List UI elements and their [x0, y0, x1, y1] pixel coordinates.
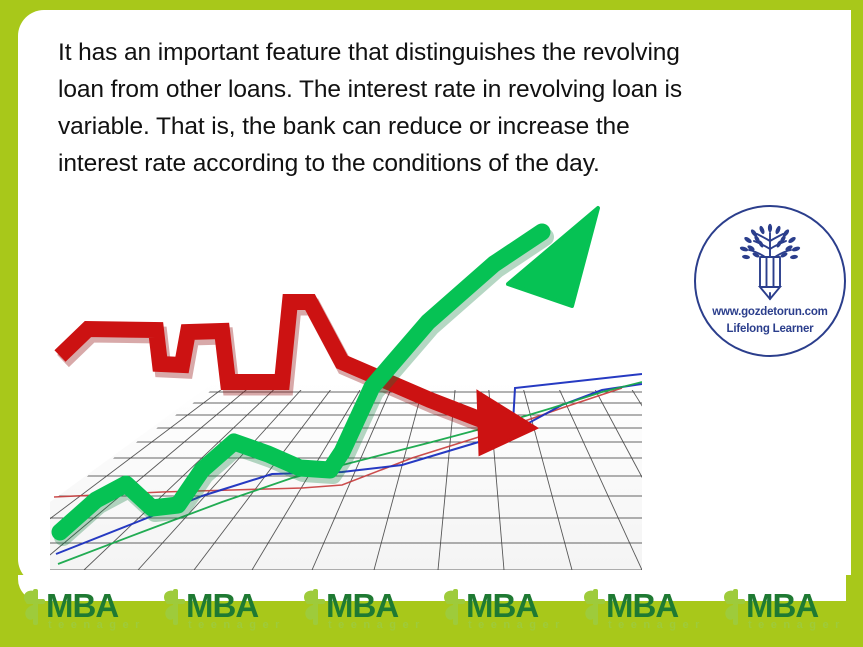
- tmba-sub: teenager: [48, 619, 146, 631]
- badge-tagline: Lifelong Learner: [696, 323, 844, 335]
- content-card: It has an important feature that disting…: [18, 10, 851, 585]
- site-badge[interactable]: www.gozdetorun.com Lifelong Learner: [694, 205, 846, 357]
- paragraph-line-4: interest rate according to the condition…: [58, 145, 830, 182]
- footer-bar: MBA teenager MBA teenager: [0, 575, 863, 647]
- tmba-logo[interactable]: MBA teenager: [18, 585, 146, 633]
- tmba-sub: teenager: [608, 619, 706, 631]
- chart-svg: [42, 202, 642, 570]
- tmba-logo[interactable]: MBA teenager: [578, 585, 706, 633]
- trend-chart-image: [42, 202, 642, 570]
- badge-website: www.gozdetorun.com: [696, 306, 844, 318]
- body-paragraph: It has an important feature that disting…: [58, 34, 830, 182]
- slide-root: It has an important feature that disting…: [0, 0, 863, 647]
- footer-logo-row: MBA teenager MBA teenager: [18, 585, 846, 633]
- paragraph-line-3: variable. That is, the bank can reduce o…: [58, 108, 830, 145]
- tmba-logo[interactable]: MBA teenager: [298, 585, 426, 633]
- tmba-sub: teenager: [328, 619, 426, 631]
- tmba-logo[interactable]: MBA teenager: [438, 585, 566, 633]
- pencil-tree-icon: [696, 219, 844, 310]
- tmba-logo[interactable]: MBA teenager: [158, 585, 286, 633]
- tmba-sub: teenager: [468, 619, 566, 631]
- paragraph-line-2: loan from other loans. The interest rate…: [58, 71, 830, 108]
- tmba-sub: teenager: [748, 619, 846, 631]
- tmba-sub: teenager: [188, 619, 286, 631]
- paragraph-line-1: It has an important feature that disting…: [58, 34, 830, 71]
- tmba-logo[interactable]: MBA teenager: [718, 585, 846, 633]
